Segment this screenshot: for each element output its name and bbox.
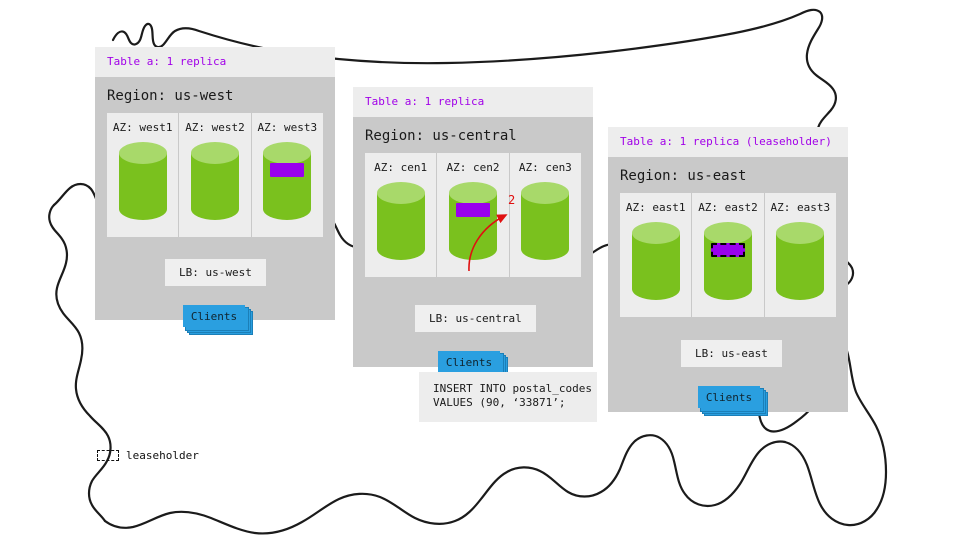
region-title-us-east: Region: us-east: [608, 157, 848, 193]
region-body-us-central: Region: us-central AZ: cen1 AZ: cen2: [353, 117, 593, 367]
node-cylinder-west1: [117, 141, 169, 221]
sql-statement-box: INSERT INTO postal_codes VALUES (90, ‘33…: [419, 372, 597, 422]
node-cylinder-east2: [702, 221, 754, 301]
table-header-us-central: Table a: 1 replica: [353, 87, 593, 117]
diagram-canvas: Table a: 1 replica Region: us-west AZ: w…: [0, 0, 960, 540]
clients-label-us-central: Clients: [438, 351, 500, 373]
node-cylinder-cen2: [447, 181, 499, 261]
node-cylinder-cen1: [375, 181, 427, 261]
load-balancer-us-central[interactable]: LB: us-central: [415, 305, 536, 332]
az-label-cen2: AZ: cen2: [437, 161, 508, 174]
arrow-label-2: 2: [508, 193, 515, 207]
replica-marker-west3: [270, 163, 304, 177]
node-cylinder-west3: [261, 141, 313, 221]
region-card-us-central: Table a: 1 replica Region: us-central AZ…: [353, 87, 593, 367]
region-card-us-east: Table a: 1 replica (leaseholder) Region:…: [608, 127, 848, 412]
az-label-west1: AZ: west1: [107, 121, 178, 134]
table-header-us-west: Table a: 1 replica: [95, 47, 335, 77]
az-strip-us-east: AZ: east1 AZ: east2: [620, 193, 836, 317]
replica-marker-east2-leaseholder: [711, 243, 745, 257]
node-cylinder-west2: [189, 141, 241, 221]
node-cylinder-cen3: [519, 181, 571, 261]
az-strip-us-west: AZ: west1 AZ: west2: [107, 113, 323, 237]
az-cell-east1: AZ: east1: [620, 193, 691, 317]
clients-button-us-east[interactable]: Clients: [698, 386, 770, 418]
legend-label: leaseholder: [126, 449, 199, 462]
az-cell-east2: AZ: east2: [691, 193, 763, 317]
az-label-east2: AZ: east2: [692, 201, 763, 214]
clients-label-us-east: Clients: [698, 386, 760, 408]
az-cell-west2: AZ: west2: [178, 113, 250, 237]
region-body-us-west: Region: us-west AZ: west1 AZ: west2: [95, 77, 335, 320]
az-label-cen3: AZ: cen3: [510, 161, 581, 174]
az-cell-cen3: AZ: cen3: [509, 153, 581, 277]
az-label-west2: AZ: west2: [179, 121, 250, 134]
az-label-west3: AZ: west3: [252, 121, 323, 134]
az-cell-cen1: AZ: cen1: [365, 153, 436, 277]
region-card-us-west: Table a: 1 replica Region: us-west AZ: w…: [95, 47, 335, 320]
az-cell-cen2: AZ: cen2: [436, 153, 508, 277]
az-cell-east3: AZ: east3: [764, 193, 836, 317]
az-label-cen1: AZ: cen1: [365, 161, 436, 174]
region-body-us-east: Region: us-east AZ: east1 AZ: east2: [608, 157, 848, 412]
load-balancer-us-east[interactable]: LB: us-east: [681, 340, 782, 367]
az-cell-west1: AZ: west1: [107, 113, 178, 237]
clients-button-us-west[interactable]: Clients: [183, 305, 255, 337]
az-label-east1: AZ: east1: [620, 201, 691, 214]
load-balancer-us-west[interactable]: LB: us-west: [165, 259, 266, 286]
region-title-us-central: Region: us-central: [353, 117, 593, 153]
replica-marker-cen2: [456, 203, 490, 217]
table-header-us-east: Table a: 1 replica (leaseholder): [608, 127, 848, 157]
az-strip-us-central: AZ: cen1 AZ: cen2: [365, 153, 581, 277]
dashed-rectangle-icon: [97, 450, 119, 461]
node-cylinder-east3: [774, 221, 826, 301]
clients-label-us-west: Clients: [183, 305, 245, 327]
legend-leaseholder: leaseholder: [97, 449, 199, 462]
az-cell-west3: AZ: west3: [251, 113, 323, 237]
az-label-east3: AZ: east3: [765, 201, 836, 214]
region-title-us-west: Region: us-west: [95, 77, 335, 113]
node-cylinder-east1: [630, 221, 682, 301]
